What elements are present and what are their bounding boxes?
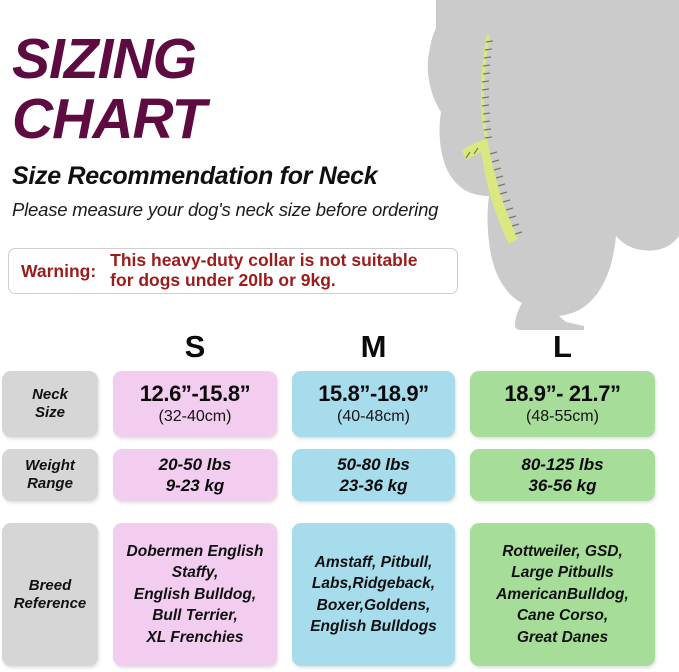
row-label-neck-line1: Neck: [32, 386, 68, 404]
cell-neck-size-l: 18.9”- 21.7” (48-55cm): [470, 371, 655, 437]
row-label-breed-reference: Breed Reference: [2, 523, 98, 666]
breed-s-line2: Staffy,: [172, 562, 219, 583]
breed-s-line4: Bull Terrier,: [152, 605, 238, 626]
neck-size-l-inches: 18.9”- 21.7”: [504, 382, 620, 406]
row-label-weight-range: Weight Range: [2, 449, 98, 501]
cell-weight-range-m: 50-80 lbs 23-36 kg: [292, 449, 455, 501]
neck-size-s-cm: (32-40cm): [159, 408, 232, 426]
cell-weight-range-s: 20-50 lbs 9-23 kg: [113, 449, 277, 501]
cell-neck-size-m: 15.8”-18.9” (40-48cm): [292, 371, 455, 437]
row-label-neck-size: Neck Size: [2, 371, 98, 437]
cell-weight-range-l: 80-125 lbs 36-56 kg: [470, 449, 655, 501]
breed-m-line2: Labs,Ridgeback,: [312, 573, 435, 594]
breed-m-line4: English Bulldogs: [310, 616, 437, 637]
breed-s-line5: XL Frenchies: [146, 627, 243, 648]
breed-s-line3: English Bulldog,: [134, 584, 256, 605]
weight-s-kg: 9-23 kg: [166, 475, 225, 496]
cell-breed-reference-s: Dobermen English Staffy, English Bulldog…: [113, 523, 277, 666]
weight-m-lbs: 50-80 lbs: [337, 454, 410, 475]
breed-s-line1: Dobermen English: [127, 541, 264, 562]
neck-size-m-cm: (40-48cm): [337, 408, 410, 426]
weight-s-lbs: 20-50 lbs: [159, 454, 232, 475]
breed-l-line1: Rottweiler, GSD,: [502, 541, 623, 562]
breed-l-line4: Cane Corso,: [517, 605, 608, 626]
weight-l-kg: 36-56 kg: [528, 475, 596, 496]
cell-breed-reference-m: Amstaff, Pitbull, Labs,Ridgeback, Boxer,…: [292, 523, 455, 666]
neck-size-l-cm: (48-55cm): [526, 408, 599, 426]
row-label-weight-line2: Range: [27, 475, 73, 493]
breed-l-line3: AmericanBulldog,: [496, 584, 629, 605]
neck-size-s-inches: 12.6”-15.8”: [140, 382, 251, 406]
cell-neck-size-s: 12.6”-15.8” (32-40cm): [113, 371, 277, 437]
breed-l-line2: Large Pitbulls: [511, 562, 614, 583]
weight-m-kg: 23-36 kg: [339, 475, 407, 496]
breed-m-line1: Amstaff, Pitbull,: [315, 552, 433, 573]
row-label-weight-line1: Weight: [25, 457, 75, 475]
row-label-neck-line2: Size: [35, 404, 65, 422]
weight-l-lbs: 80-125 lbs: [521, 454, 603, 475]
sizing-table: Neck Size 12.6”-15.8” (32-40cm) 15.8”-18…: [0, 0, 679, 672]
cell-breed-reference-l: Rottweiler, GSD, Large Pitbulls American…: [470, 523, 655, 666]
row-label-breed-line1: Breed: [29, 577, 72, 595]
breed-m-line3: Boxer,Goldens,: [317, 595, 431, 616]
neck-size-m-inches: 15.8”-18.9”: [318, 382, 429, 406]
row-label-breed-line2: Reference: [14, 595, 87, 613]
breed-l-line5: Great Danes: [517, 627, 608, 648]
